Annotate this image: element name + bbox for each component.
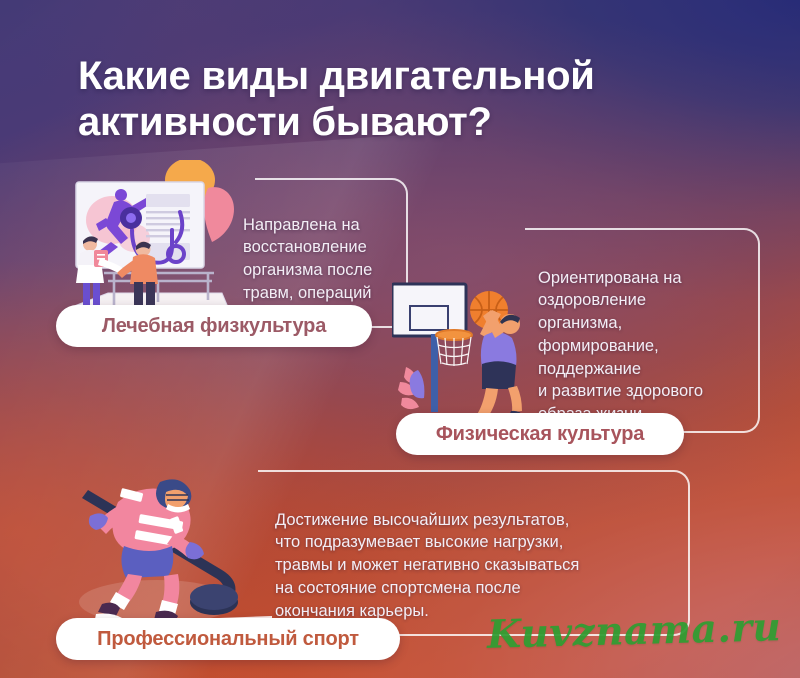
ice-hockey-player-illustration <box>62 462 272 634</box>
description-therapeutic: Направлена на восстановление организма п… <box>243 214 408 305</box>
badge-label: Физическая культура <box>436 423 644 446</box>
infographic-poster: Какие виды двигательной активности бываю… <box>0 0 800 678</box>
badge-professional-sport[interactable]: Профессиональный спорт <box>56 618 400 660</box>
basketball-player-illustration <box>392 272 552 427</box>
page-title: Какие виды двигательной активности бываю… <box>78 53 768 146</box>
badge-label: Лечебная физкультура <box>102 315 326 338</box>
badge-label: Профессиональный спорт <box>97 628 359 651</box>
site-watermark: Kuvznama.ru <box>486 604 781 658</box>
badge-physical-culture[interactable]: Физическая культура <box>396 413 684 455</box>
badge-therapeutic-physical-culture[interactable]: Лечебная физкультура <box>56 305 372 347</box>
description-professional: Достижение высочайших результатов, что п… <box>275 509 675 623</box>
rehabilitation-scene-illustration <box>62 160 247 325</box>
description-physical: Ориентирована на оздоровление организма,… <box>538 267 756 426</box>
